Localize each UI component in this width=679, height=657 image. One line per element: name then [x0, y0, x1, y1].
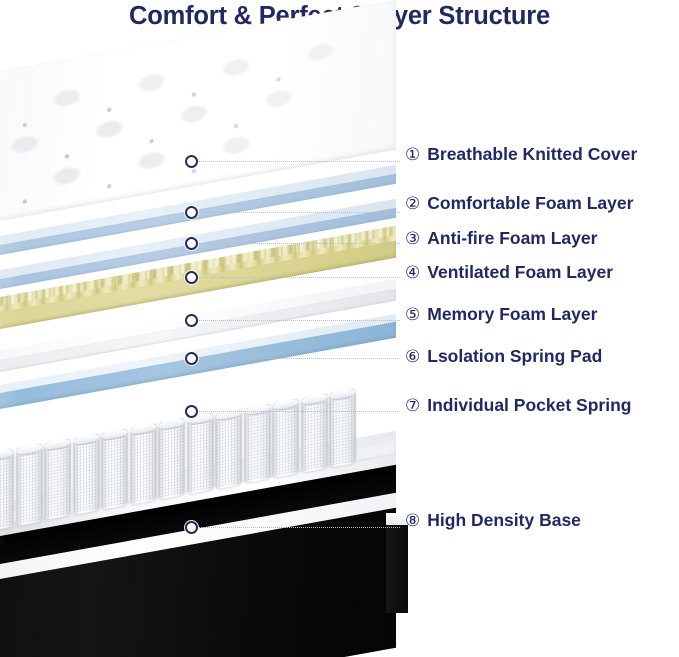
- layer-marker-3[interactable]: [185, 237, 198, 250]
- pocket-spring-coil: [187, 413, 214, 494]
- layer-label-3[interactable]: ③Anti-fire Foam Layer: [405, 228, 597, 249]
- layer-label-1[interactable]: ①Breathable Knitted Cover: [405, 144, 637, 165]
- layer-label-text: Ventilated Foam Layer: [427, 262, 613, 283]
- layer-marker-5[interactable]: [185, 314, 198, 327]
- layer-number-badge: ④: [405, 264, 420, 281]
- layer-label-text: Lsolation Spring Pad: [427, 346, 602, 367]
- leader-line: [198, 243, 400, 244]
- layer-label-text: Comfortable Foam Layer: [427, 193, 633, 214]
- layer-marker-1[interactable]: [185, 155, 198, 168]
- layer-marker-7[interactable]: [185, 405, 198, 418]
- layer-label-6[interactable]: ⑥Lsolation Spring Pad: [405, 346, 602, 367]
- layer-label-4[interactable]: ④Ventilated Foam Layer: [405, 262, 613, 283]
- pocket-spring-coil: [130, 423, 157, 504]
- pocket-spring-coil: [73, 433, 100, 515]
- layer-marker-8[interactable]: [185, 521, 198, 534]
- pocket-spring-coil: [158, 418, 185, 499]
- pocket-spring-coil: [101, 428, 128, 510]
- pocket-spring-coil: [244, 403, 271, 484]
- layer-label-2[interactable]: ②Comfortable Foam Layer: [405, 193, 633, 214]
- leader-line: [198, 277, 400, 278]
- layer-marker-2[interactable]: [185, 206, 198, 219]
- leader-line: [198, 161, 400, 162]
- pocket-spring-coil: [44, 438, 71, 520]
- layer-label-text: Memory Foam Layer: [427, 304, 597, 325]
- pocket-spring-coil: [301, 393, 328, 473]
- layer-label-7[interactable]: ⑦Individual Pocket Spring: [405, 395, 631, 416]
- leader-line: [198, 358, 400, 359]
- layer-label-text: Breathable Knitted Cover: [427, 144, 637, 165]
- mattress-illustration: [0, 36, 430, 657]
- layer-number-badge: ⑧: [405, 512, 420, 529]
- leader-line: [198, 411, 400, 412]
- layer-marker-6[interactable]: [185, 352, 198, 365]
- layer-number-badge: ①: [405, 146, 420, 163]
- pocket-spring-coil: [215, 408, 242, 489]
- layer-label-list: ①Breathable Knitted Cover②Comfortable Fo…: [405, 0, 679, 657]
- pocket-spring-coil: [329, 388, 356, 468]
- layer-marker-4[interactable]: [185, 271, 198, 284]
- layer-label-text: Anti-fire Foam Layer: [427, 228, 597, 249]
- mattress-layer-infographic: Comfort & Perfect 8-layer Structure: [0, 0, 679, 657]
- layer-breathable-knitted-cover: [0, 0, 396, 234]
- layer-number-badge: ③: [405, 230, 420, 247]
- layer-number-badge: ⑤: [405, 306, 420, 323]
- layer-label-8[interactable]: ⑧High Density Base: [405, 510, 581, 531]
- leader-line: [198, 527, 400, 528]
- pocket-spring-coil: [272, 398, 299, 478]
- layer-number-badge: ⑦: [405, 397, 420, 414]
- layer-number-badge: ⑥: [405, 348, 420, 365]
- layer-number-badge: ②: [405, 195, 420, 212]
- leader-line: [198, 320, 400, 321]
- layer-label-text: High Density Base: [427, 510, 581, 531]
- pocket-spring-coil: [0, 449, 14, 531]
- layer-label-5[interactable]: ⑤Memory Foam Layer: [405, 304, 597, 325]
- layer-label-text: Individual Pocket Spring: [427, 395, 631, 416]
- pocket-spring-coil: [16, 443, 43, 525]
- leader-line: [198, 212, 400, 213]
